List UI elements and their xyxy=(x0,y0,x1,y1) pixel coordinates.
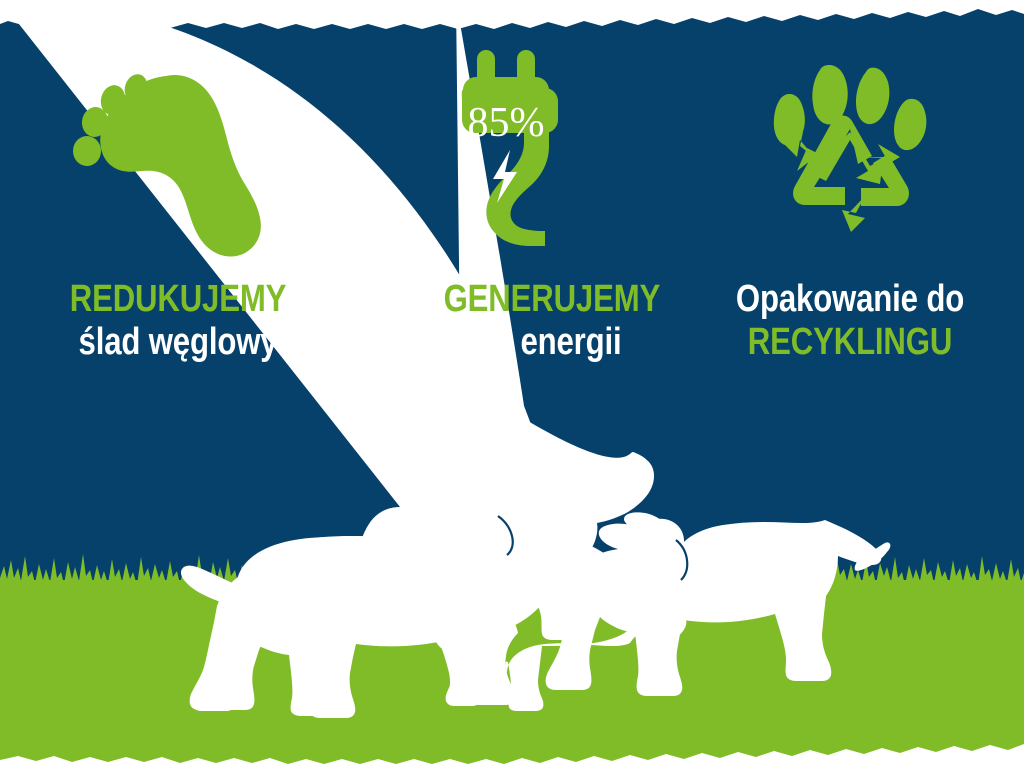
caption-3-line-2: RECYKLINGU xyxy=(719,321,981,364)
caption-2-line-1: Tyle GENERUJEMY xyxy=(376,278,647,321)
recycle-arrow-right xyxy=(842,154,909,232)
caption-block-3: Opakowanie do RECYKLINGU xyxy=(719,278,981,363)
icon-row: 85% xyxy=(0,48,1024,248)
caption-2-prefix: Tyle xyxy=(376,278,444,320)
caption-3-line-1: Opakowanie do xyxy=(719,278,981,321)
grass-blade-edge xyxy=(0,538,1024,598)
recycling-paw-icon xyxy=(766,62,934,234)
footprint-icon xyxy=(82,64,278,232)
grass-background xyxy=(0,580,1024,768)
power-plug-icon: 85% xyxy=(455,50,565,246)
caption-2-line-2: własnej energii xyxy=(376,321,647,364)
caption-row: REDUKUJEMY ślad węglowy Tyle GENERUJEMY … xyxy=(0,278,1024,398)
caption-1-line-1: REDUKUJEMY xyxy=(47,278,309,321)
infographic-poster: 85% xyxy=(0,0,1024,768)
caption-1-line-2: ślad węglowy xyxy=(47,321,309,364)
icon-cell-footprint xyxy=(30,48,330,248)
caption-2-accent: GENERUJEMY xyxy=(444,278,661,320)
caption-block-1: REDUKUJEMY ślad węglowy xyxy=(47,278,309,363)
caption-block-2: Tyle GENERUJEMY własnej energii xyxy=(376,278,647,363)
icon-cell-recycling-paw xyxy=(700,48,1000,248)
plug-percentage-value: 85% xyxy=(468,100,545,146)
icon-cell-plug: 85% xyxy=(360,48,660,248)
